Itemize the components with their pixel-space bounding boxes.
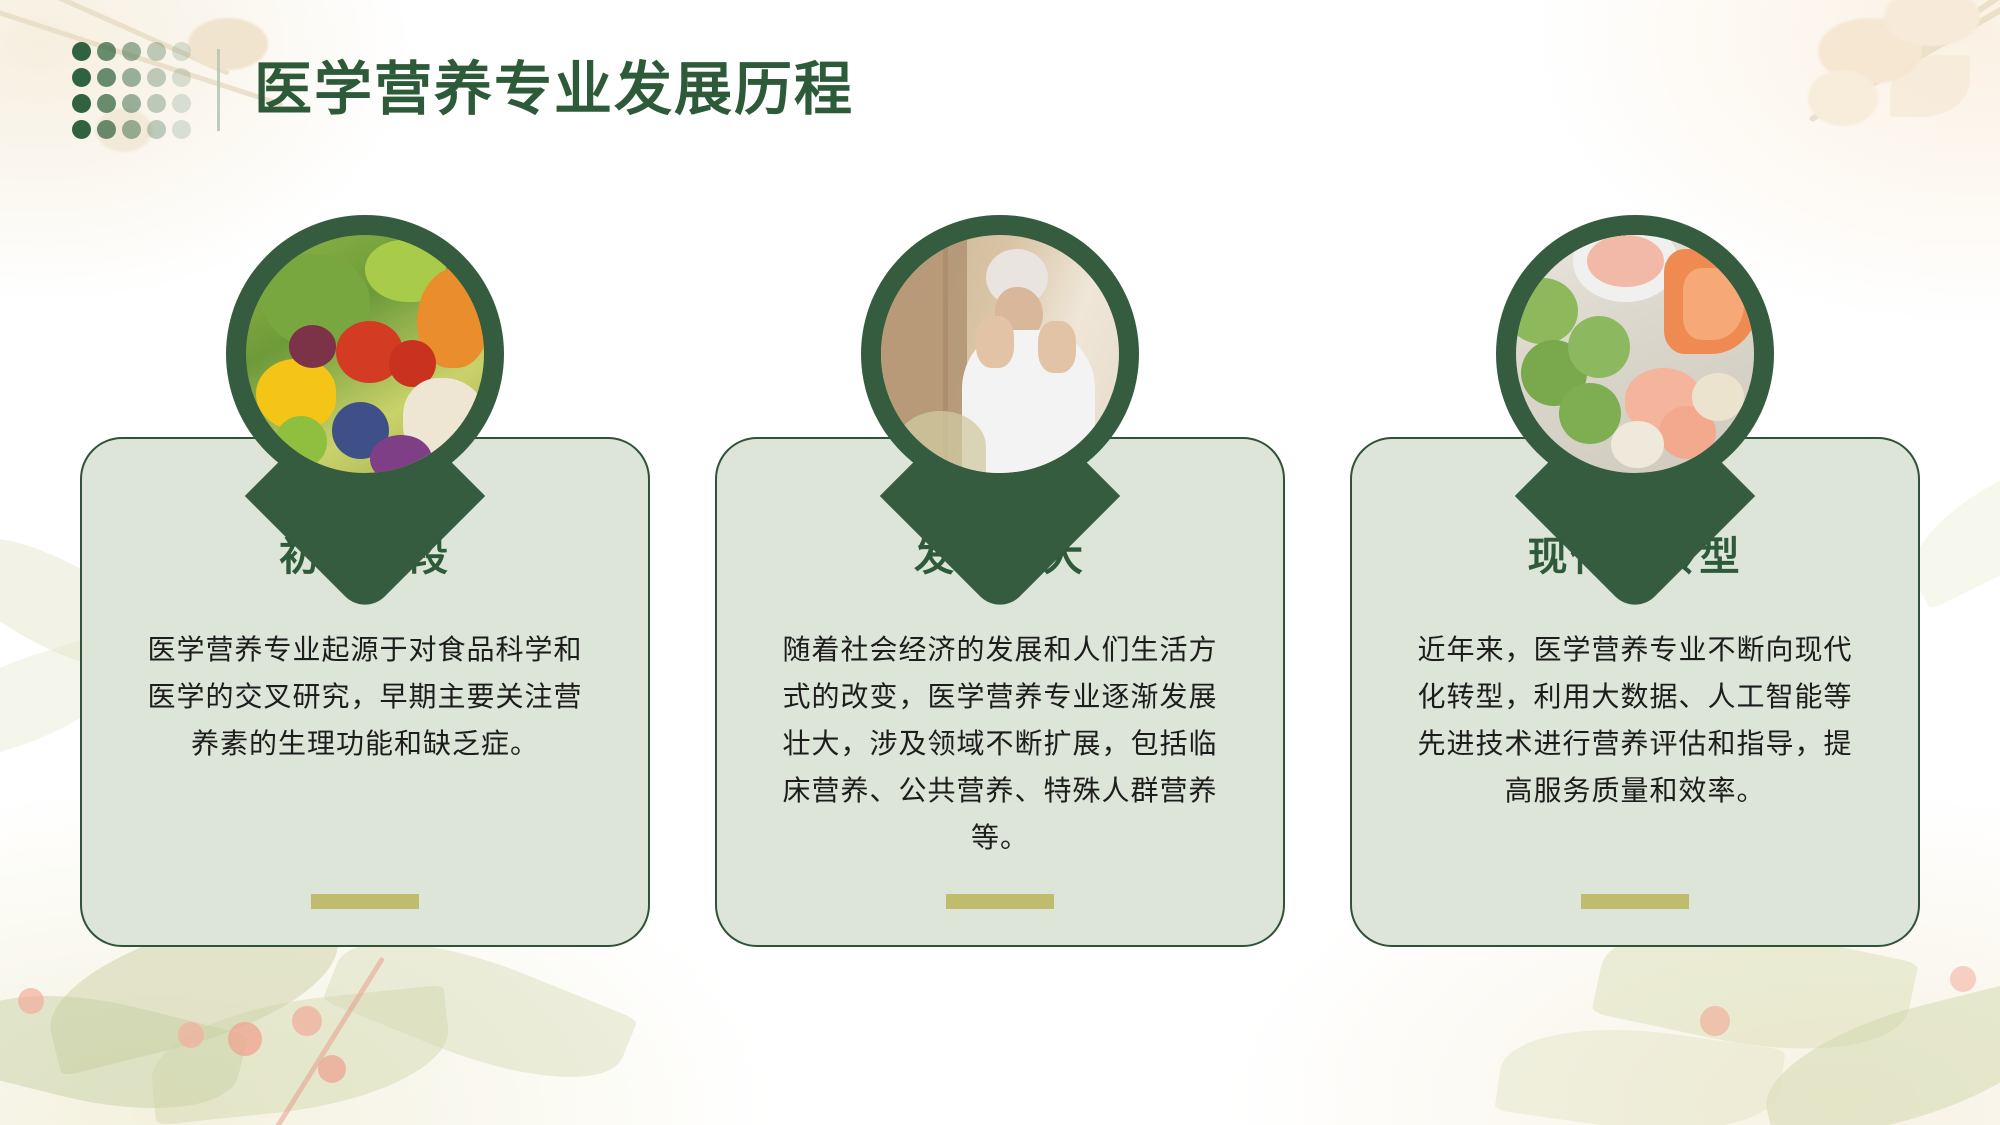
petal-decoration [1818, 18, 1922, 84]
fresh-vegetables-photo [246, 235, 484, 473]
card-body-text: 随着社会经济的发展和人们生活方式的改变，医学营养专业逐渐发展壮大，涉及领域不断扩… [763, 627, 1237, 862]
page-title: 医学营养专业发展历程 [254, 61, 854, 119]
leaf-decoration [0, 968, 248, 1125]
card-accent-bar [1581, 894, 1689, 909]
timeline-card-2: 发展壮大 随着社会经济的发展和人们生活方式的改变，医学营养专业逐渐发展壮大，涉及… [715, 215, 1285, 947]
leaf-decoration [1890, 55, 1970, 117]
card-accent-bar [946, 894, 1054, 909]
timeline-card-1: 初始阶段 医学营养专业起源于对食品科学和医学的交叉研究，早期主要关注营养素的生理… [80, 215, 650, 947]
berry-decoration [228, 1022, 262, 1056]
stem-decoration [1870, 0, 2000, 85]
berry-decoration [1950, 966, 1976, 992]
dot-matrix-icon [72, 42, 191, 139]
stem-decoration [275, 956, 385, 1125]
berry-decoration [18, 988, 44, 1014]
berry-decoration [1700, 1006, 1730, 1036]
petal-decoration [1808, 70, 1878, 126]
title-divider [217, 49, 220, 131]
elderly-woman-photo [881, 235, 1119, 473]
berry-decoration [178, 1022, 204, 1048]
page-header: 医学营养专业发展历程 [72, 44, 854, 136]
berry-decoration [318, 1055, 346, 1083]
pin-marker-2[interactable] [861, 215, 1139, 530]
stem-decoration [1809, 0, 2000, 123]
card-body-text: 近年来，医学营养专业不断向现代化转型，利用大数据、人工智能等先进技术进行营养评估… [1398, 627, 1872, 815]
card-body-text: 医学营养专业起源于对食品科学和医学的交叉研究，早期主要关注营养素的生理功能和缺乏… [128, 627, 602, 768]
berry-decoration [292, 1006, 322, 1036]
leaf-decoration [145, 985, 455, 1125]
leaf-decoration [1494, 1011, 1785, 1125]
leaf-decoration [1751, 975, 2000, 1125]
timeline-cards: 初始阶段 医学营养专业起源于对食品科学和医学的交叉研究，早期主要关注营养素的生理… [0, 215, 2000, 947]
petal-decoration [1884, 0, 1980, 46]
seafood-platter-photo [1516, 235, 1754, 473]
timeline-card-3: 现代化转型 近年来，医学营养专业不断向现代化转型，利用大数据、人工智能等先进技术… [1350, 215, 1920, 947]
pin-marker-3[interactable] [1496, 215, 1774, 530]
pin-marker-1[interactable] [226, 215, 504, 530]
slide-canvas: 医学营养专业发展历程 [0, 0, 2000, 1125]
card-accent-bar [311, 894, 419, 909]
